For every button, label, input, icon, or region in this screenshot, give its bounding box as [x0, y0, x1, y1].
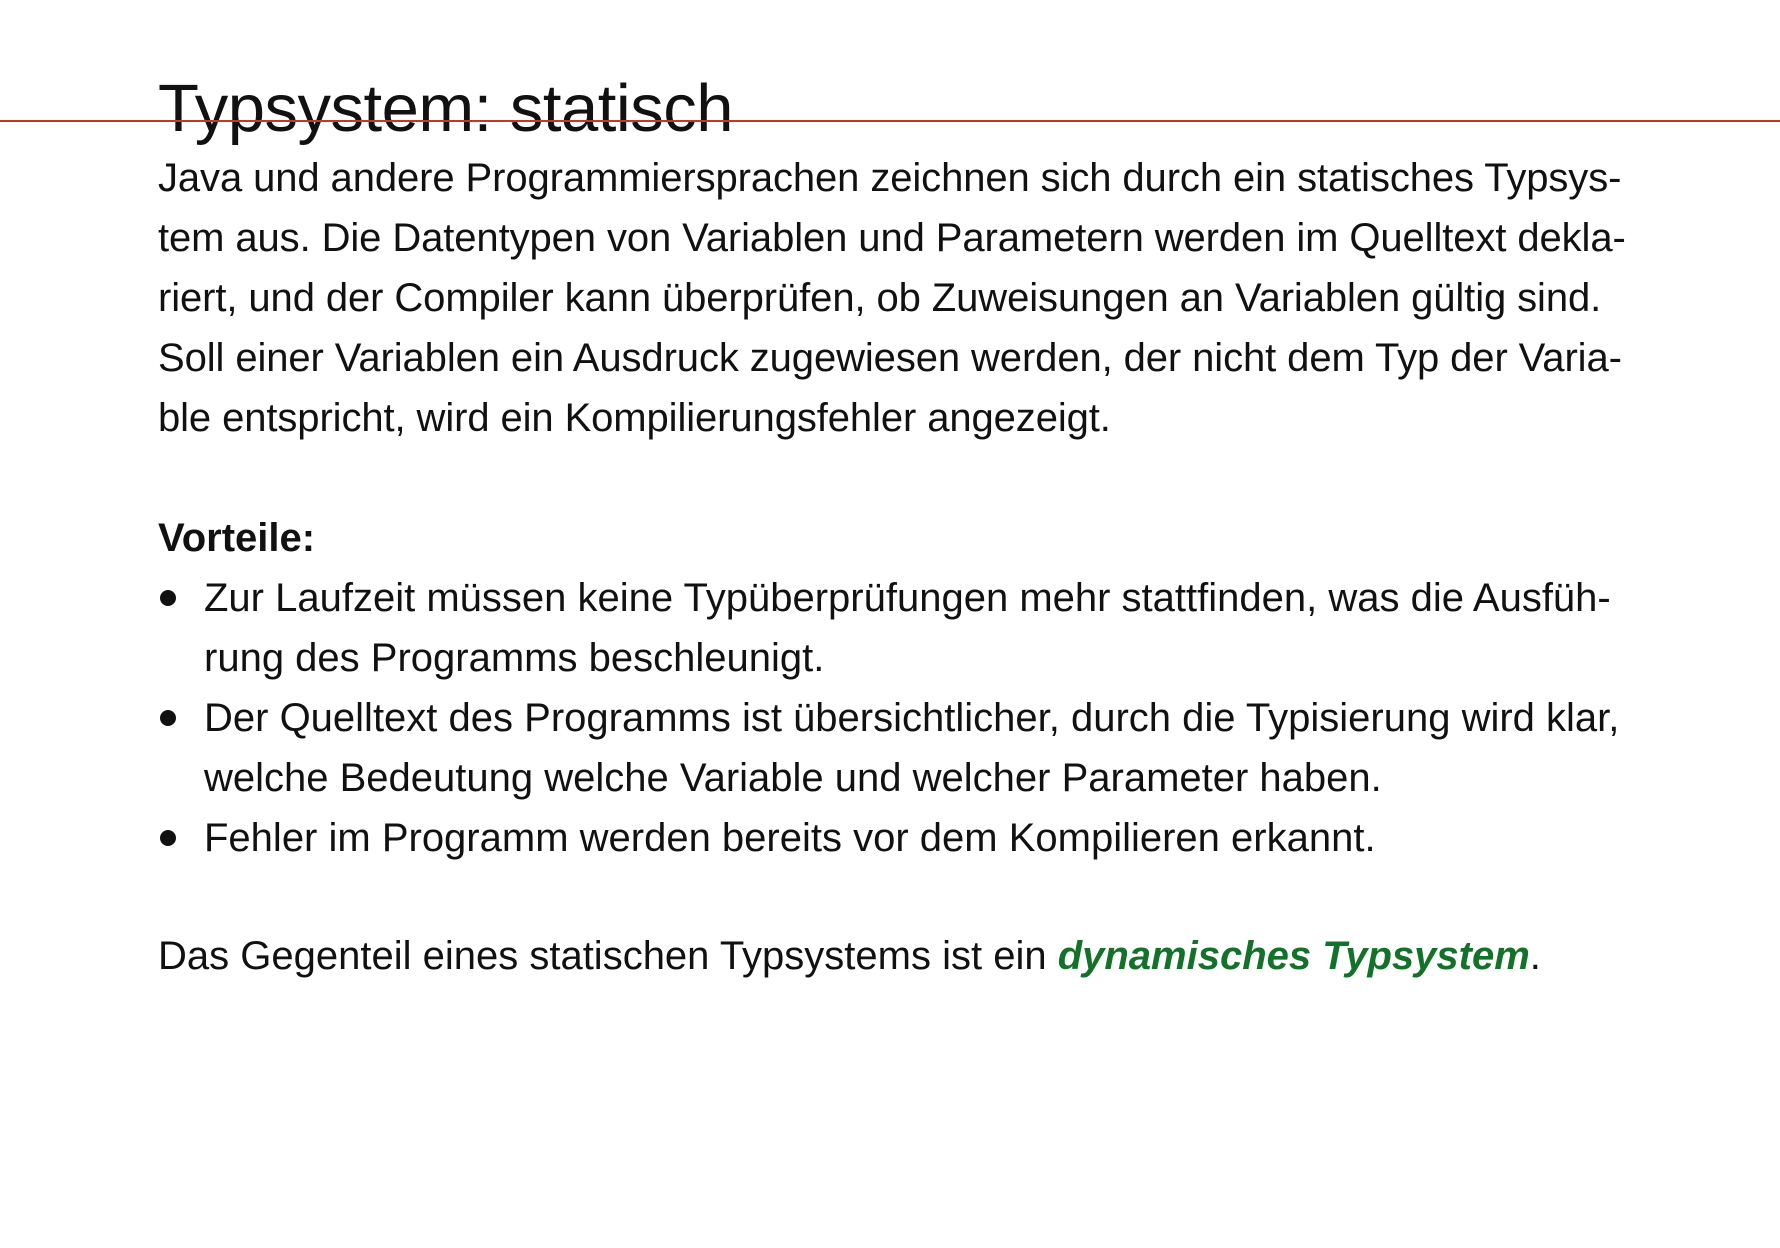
page-title: Typsystem: statisch	[158, 69, 1718, 148]
closing-paragraph: Das Gegenteil eines statischen Typsystem…	[158, 926, 1746, 986]
dynamic-typing-emphasis: dynamisches Typsystem	[1058, 934, 1530, 978]
list-item: Der Quelltext des Programms ist übersich…	[158, 688, 1746, 808]
list-item-line: Fehler im Programm werden bereits vor de…	[204, 808, 1746, 868]
list-item: Fehler im Programm werden bereits vor de…	[158, 808, 1746, 868]
intro-line-1: Java und andere Programmiersprachen zeic…	[158, 148, 1746, 208]
bullet-dot-icon	[160, 830, 176, 846]
list-item-line: rung des Programms beschleunigt.	[204, 628, 1746, 688]
spacer-before-closing	[158, 868, 1746, 926]
advantages-heading: Vorteile:	[158, 508, 1746, 568]
closing-prefix: Das Gegenteil eines statischen Typsystem…	[158, 934, 1058, 978]
intro-line-4: Soll einer Variablen ein Ausdruck zugewi…	[158, 328, 1746, 388]
list-item-line: Der Quelltext des Programms ist übersich…	[204, 688, 1746, 748]
intro-line-2: tem aus. Die Datentypen von Variablen un…	[158, 208, 1746, 268]
list-item-line: Zur Laufzeit müssen keine Typüberprüfung…	[204, 568, 1746, 628]
title-divider	[0, 120, 1780, 122]
slide-canvas: Typsystem: statisch Java und andere Prog…	[0, 0, 1780, 1248]
intro-paragraph: Java und andere Programmiersprachen zeic…	[158, 148, 1746, 448]
closing-suffix: .	[1530, 934, 1541, 978]
bullet-dot-icon	[160, 590, 176, 606]
list-item: Zur Laufzeit müssen keine Typüberprüfung…	[158, 568, 1746, 688]
list-item-line: welche Bedeutung welche Variable und wel…	[204, 748, 1746, 808]
spacer-after-intro	[158, 448, 1746, 508]
intro-line-3: riert, und der Compiler kann überprüfen,…	[158, 268, 1746, 328]
bullet-dot-icon	[160, 710, 176, 726]
intro-line-5: ble entspricht, wird ein Kompilierungsfe…	[158, 388, 1746, 448]
slide-body: Java und andere Programmiersprachen zeic…	[158, 148, 1746, 986]
advantages-list: Zur Laufzeit müssen keine Typüberprüfung…	[158, 568, 1746, 868]
